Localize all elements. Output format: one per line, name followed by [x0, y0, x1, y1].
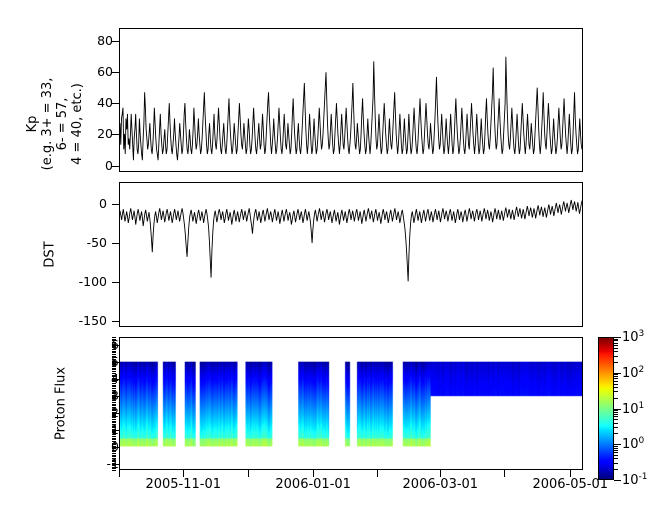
ytick-mark-minor: [112, 412, 116, 413]
colorbar-gradient: [599, 338, 613, 479]
ytick-mark-minor: [112, 378, 116, 379]
ytick-mark-minor: [112, 465, 116, 466]
ytick-mark-minor: [112, 395, 116, 396]
ytick-mark-minor: [112, 417, 116, 418]
ytick-mark-minor: [112, 351, 116, 352]
colorbar-tick-mark-minor: [614, 340, 618, 341]
colorbar-tick-label: 100: [622, 436, 644, 452]
ytick-label: -50: [87, 237, 107, 250]
ytick-mark-minor: [112, 398, 116, 399]
colorbar-tick-mark-minor: [614, 458, 618, 459]
ytick-mark-minor: [112, 400, 116, 401]
colorbar-tick-mark-minor: [614, 455, 618, 456]
proton-flux-axis-title: Proton Flux: [54, 349, 69, 459]
ytick-mark-minor: [112, 461, 116, 462]
colorbar-tick-mark-minor: [614, 446, 618, 447]
figure-canvas: Kp (e.g. 3+ = 33, 6- = 57, 4 = 40, etc.)…: [0, 0, 665, 523]
ytick-mark-minor: [112, 439, 116, 440]
ytick-mark-minor: [112, 376, 116, 377]
colorbar-tick-mark-minor: [614, 381, 618, 382]
xtick-mark-minor: [377, 470, 378, 477]
ytick-mark-minor: [112, 368, 116, 369]
colorbar-tick-mark-minor: [614, 378, 618, 379]
ytick-mark-minor: [112, 340, 116, 341]
colorbar-tick-mark-minor: [614, 356, 618, 357]
ytick-mark-minor: [112, 458, 116, 459]
ytick-mark-minor: [112, 427, 116, 428]
colorbar-tick-label: 101: [622, 400, 644, 416]
ytick-mark-minor: [112, 444, 116, 445]
xtick-label: 2005-11-01: [145, 477, 221, 492]
ytick-mark-minor: [112, 392, 116, 393]
ytick-mark-minor: [112, 404, 116, 405]
colorbar-tick-mark-minor: [614, 452, 618, 453]
ytick-mark: [112, 321, 119, 322]
colorbar-tick-mark-minor: [614, 414, 618, 415]
colorbar-tick-label: 102: [622, 365, 644, 381]
kp-axis-title-line-2: (e.g. 3+ = 33,: [40, 54, 55, 194]
ytick-mark-minor: [112, 337, 116, 338]
ytick-mark-minor: [112, 436, 116, 437]
ytick-mark-minor: [112, 386, 116, 387]
ytick-mark-minor: [112, 453, 116, 454]
ytick-mark-minor: [112, 450, 116, 451]
colorbar-tick-marks: [614, 337, 622, 480]
ytick-mark-minor: [112, 397, 116, 398]
ytick-mark-minor: [112, 467, 116, 468]
colorbar-tick-mark-minor: [614, 416, 618, 417]
ytick-mark-minor: [112, 409, 116, 410]
ytick-mark-minor: [112, 468, 116, 469]
ytick-mark-minor: [112, 415, 116, 416]
colorbar-tick-mark: [614, 337, 621, 338]
ytick-mark-minor: [112, 359, 116, 360]
ytick-mark-minor: [112, 456, 116, 457]
ytick-mark-minor: [112, 393, 116, 394]
xtick-label: 2006-05-01: [532, 477, 608, 492]
ytick-mark: [112, 72, 119, 73]
colorbar-tick-mark-minor: [614, 391, 618, 392]
colorbar-tick-label: 10-1: [622, 472, 648, 488]
ytick-mark: [112, 41, 119, 42]
ytick-label: -150: [79, 315, 107, 328]
ytick-mark-minor: [112, 375, 116, 376]
xtick-label: 2006-01-01: [275, 477, 351, 492]
kp-ytick-marks: [111, 28, 119, 172]
colorbar-tick-mark-minor: [614, 419, 618, 420]
ytick-mark-minor: [112, 371, 116, 372]
ytick-label: 0: [99, 198, 107, 211]
colorbar-tick-mark: [614, 444, 621, 445]
ytick-mark-minor: [112, 349, 116, 350]
ytick-mark-minor: [112, 407, 116, 408]
colorbar-tick-mark: [614, 480, 621, 481]
ytick-mark: [112, 103, 119, 104]
kp-axis-title-line-3: 6- = 57,: [55, 54, 70, 194]
ytick-mark-minor: [112, 388, 116, 389]
x-axis-tick-labels: 2005-11-012006-01-012006-03-012006-05-01: [0, 477, 665, 499]
dst-series-line: [120, 183, 582, 326]
colorbar-tick-mark-minor: [614, 348, 618, 349]
colorbar-tick-mark-minor: [614, 345, 618, 346]
ytick-mark-minor: [112, 432, 116, 433]
ytick-mark-minor: [112, 414, 116, 415]
ytick-mark-minor: [112, 424, 116, 425]
colorbar-tick-mark: [614, 409, 621, 410]
dst-plot-panel: [119, 182, 583, 327]
xtick-mark: [440, 470, 441, 477]
colorbar-tick-mark-minor: [614, 423, 618, 424]
ytick-mark-minor: [112, 463, 116, 464]
colorbar-tick-mark-minor: [614, 384, 618, 385]
dst-ytick-marks: [111, 182, 119, 327]
ytick-mark-minor: [112, 434, 116, 435]
ytick-mark-minor: [112, 441, 116, 442]
kp-ytick-labels: 020406080: [79, 28, 113, 172]
ytick-mark-minor: [112, 366, 116, 367]
xtick-mark-minor: [119, 470, 120, 477]
dst-ytick-labels: 0-50-100-150: [73, 182, 107, 327]
colorbar-tick-label: 103: [622, 329, 644, 345]
ytick-mark-minor: [112, 426, 116, 427]
colorbar-tick-mark-minor: [614, 374, 618, 375]
colorbar-tick-mark-minor: [614, 412, 618, 413]
proton-flux-ytick-marks: [111, 337, 119, 470]
colorbar-tick-mark-minor: [614, 463, 618, 464]
ytick-mark-minor: [112, 364, 116, 365]
xtick-mark: [313, 470, 314, 477]
dst-axis-title: DST: [43, 215, 58, 295]
ytick-mark-minor: [112, 443, 116, 444]
ytick-mark-minor: [112, 381, 116, 382]
ytick-mark-minor: [112, 354, 116, 355]
ytick-mark-minor: [112, 347, 116, 348]
ytick-mark-minor: [112, 460, 116, 461]
colorbar-tick-mark-minor: [614, 343, 618, 344]
colorbar-tick-mark-minor: [614, 427, 618, 428]
colorbar-tick-labels: 10-1100101102103: [622, 337, 665, 480]
ytick-mark-minor: [112, 373, 116, 374]
ytick-mark-minor: [112, 410, 116, 411]
ytick-mark: [112, 204, 119, 205]
ytick-mark-minor: [112, 356, 116, 357]
colorbar-tick-mark-minor: [614, 469, 618, 470]
colorbar-tick-mark-minor: [614, 351, 618, 352]
ytick-mark-minor: [112, 429, 116, 430]
kp-plot-panel: [119, 28, 583, 172]
ytick-mark-minor: [112, 390, 116, 391]
ytick-mark-minor: [112, 402, 116, 403]
colorbar-tick-mark-minor: [614, 398, 618, 399]
proton-flux-plot-panel: [119, 337, 583, 470]
colorbar-tick-mark-minor: [614, 362, 618, 363]
colorbar-tick-mark-minor: [614, 339, 618, 340]
ytick-mark-minor: [112, 342, 116, 343]
xtick-mark: [570, 470, 571, 477]
kp-series-line: [120, 29, 582, 171]
colorbar-tick-mark: [614, 373, 621, 374]
ytick-mark-minor: [112, 369, 116, 370]
colorbar: [598, 337, 614, 480]
ytick-mark-minor: [112, 431, 116, 432]
colorbar-tick-mark-minor: [614, 448, 618, 449]
ytick-mark-minor: [112, 385, 116, 386]
xtick-mark-minor: [248, 470, 249, 477]
ytick-mark-minor: [112, 446, 116, 447]
colorbar-tick-mark-minor: [614, 376, 618, 377]
ytick-label: -100: [79, 276, 107, 289]
ytick-mark-minor: [112, 422, 116, 423]
colorbar-tick-mark-minor: [614, 450, 618, 451]
ytick-mark-minor: [112, 339, 116, 340]
xtick-mark-minor: [504, 470, 505, 477]
colorbar-tick-mark-minor: [614, 387, 618, 388]
ytick-mark-minor: [112, 383, 116, 384]
colorbar-tick-mark-minor: [614, 410, 618, 411]
ytick-mark-minor: [112, 346, 116, 347]
ytick-mark: [112, 243, 119, 244]
kp-axis-title: Kp (e.g. 3+ = 33, 6- = 57, 4 = 40, etc.): [25, 54, 85, 194]
ytick-mark-minor: [112, 363, 116, 364]
ytick-mark-minor: [112, 361, 116, 362]
xtick-mark: [183, 470, 184, 477]
proton-flux-spectrogram: [120, 338, 582, 469]
ytick-mark-minor: [112, 380, 116, 381]
ytick-mark-minor: [112, 438, 116, 439]
ytick-mark-minor: [112, 451, 116, 452]
ytick-mark-minor: [112, 344, 116, 345]
ytick-mark-minor: [112, 352, 116, 353]
colorbar-tick-mark-minor: [614, 433, 618, 434]
ytick-mark-minor: [112, 419, 116, 420]
ytick-mark: [112, 134, 119, 135]
ytick-mark-minor: [112, 405, 116, 406]
xtick-label: 2006-03-01: [403, 477, 479, 492]
ytick-mark-minor: [112, 455, 116, 456]
ytick-mark-minor: [112, 421, 116, 422]
ytick-mark: [112, 282, 119, 283]
ytick-mark-minor: [112, 357, 116, 358]
ytick-mark: [112, 166, 119, 167]
ytick-mark-minor: [112, 448, 116, 449]
kp-axis-title-line-1: Kp: [25, 54, 40, 194]
ytick-mark-minor: [112, 470, 116, 471]
